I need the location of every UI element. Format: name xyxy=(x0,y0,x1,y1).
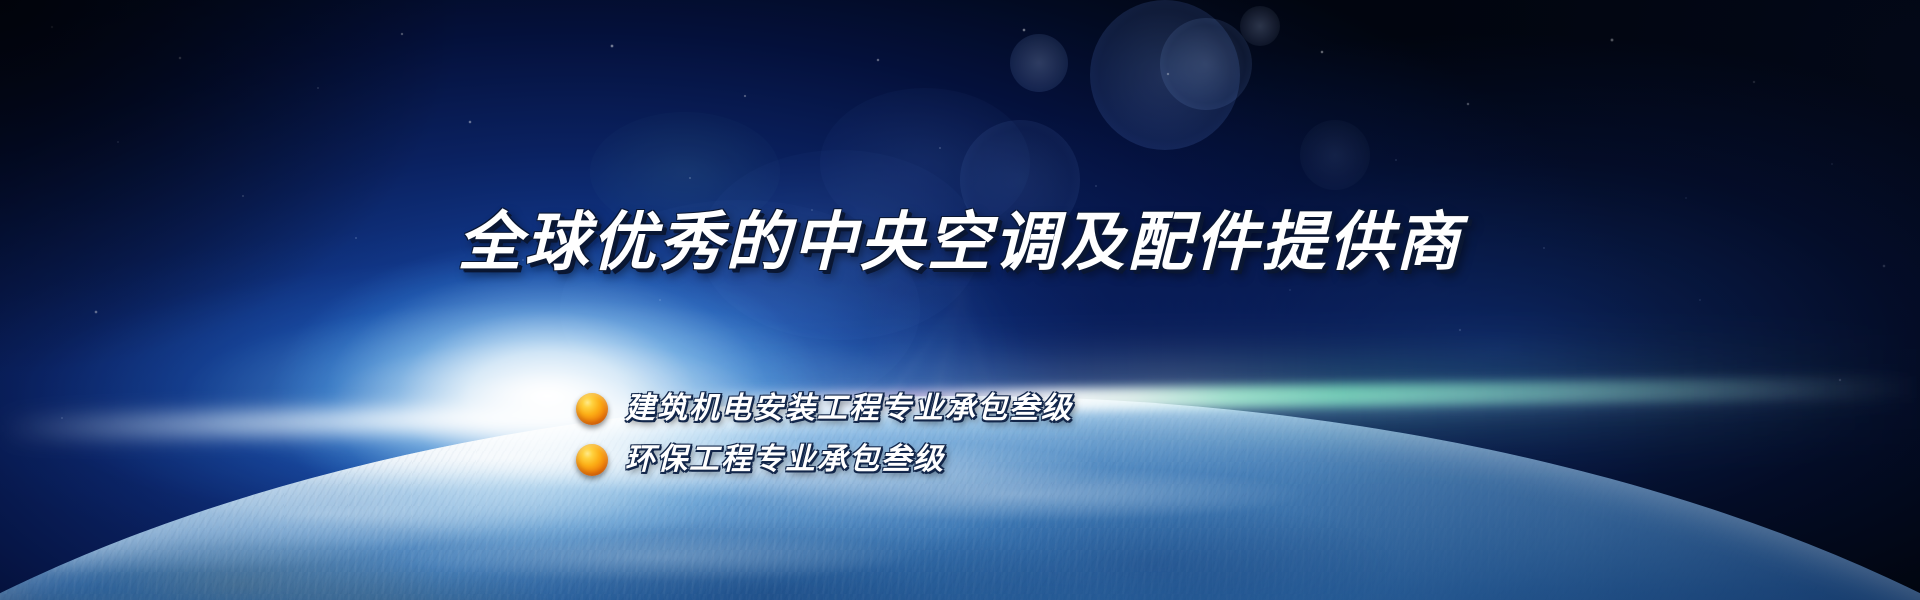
bullet-item-2-label: 环保工程专业承包叁级 xyxy=(625,443,945,477)
bullet-item-1-label: 建筑机电安装工程专业承包叁级 xyxy=(625,392,1073,426)
banner-headline: 全球优秀的中央空调及配件提供商 xyxy=(0,206,1920,278)
banner-bullet-list: 建筑机电安装工程专业承包叁级 环保工程专业承包叁级 xyxy=(576,392,1073,477)
orange-dot-icon xyxy=(576,393,608,425)
hero-banner: 全球优秀的中央空调及配件提供商 建筑机电安装工程专业承包叁级 环保工程专业承包叁… xyxy=(0,0,1920,600)
orange-dot-icon xyxy=(576,444,608,476)
banner-content: 全球优秀的中央空调及配件提供商 建筑机电安装工程专业承包叁级 环保工程专业承包叁… xyxy=(0,0,1920,600)
bullet-item-2: 环保工程专业承包叁级 xyxy=(576,443,1073,477)
bullet-item-1: 建筑机电安装工程专业承包叁级 xyxy=(576,392,1073,426)
